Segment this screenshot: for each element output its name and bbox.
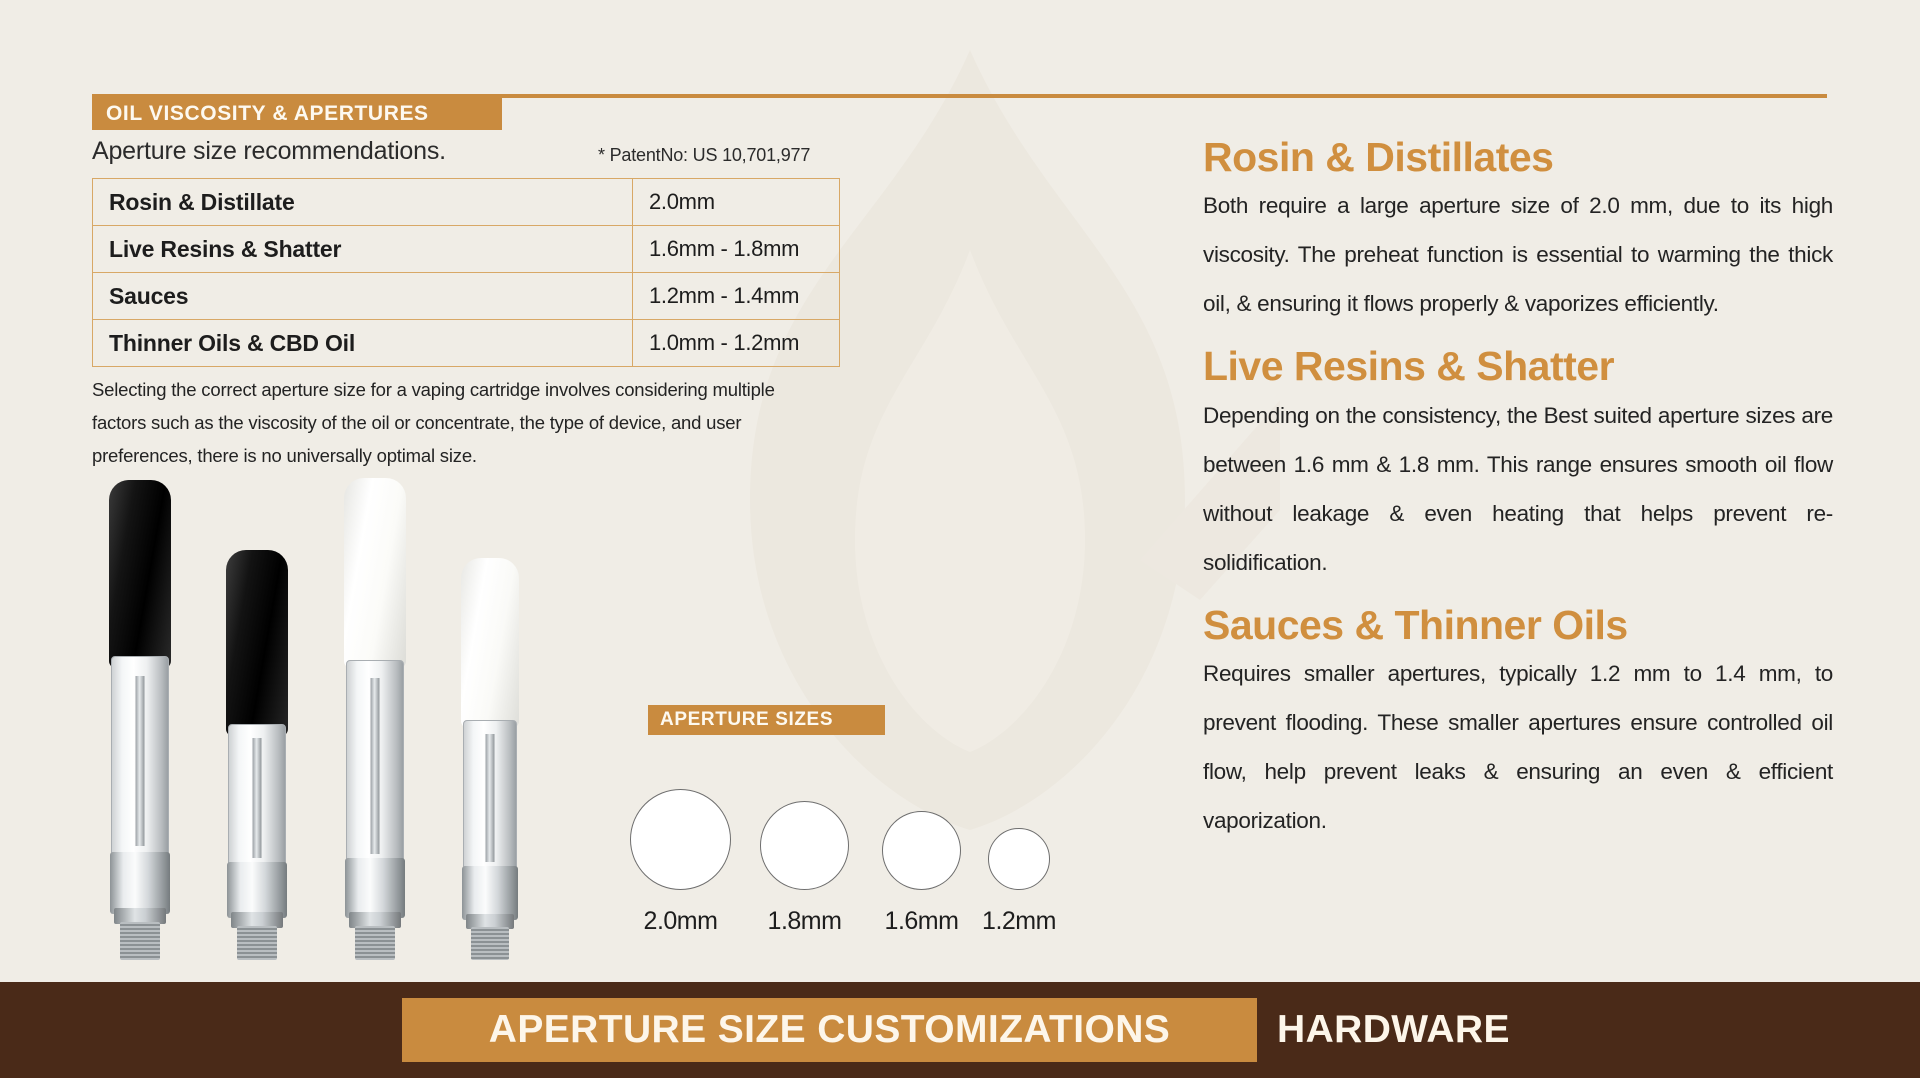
table-cell-aperture-size: 2.0mm [633, 179, 840, 226]
info-block-heading: Sauces & Thinner Oils [1203, 603, 1833, 647]
table-cell-oil-type: Live Resins & Shatter [93, 226, 633, 273]
white-tip-cartridge-short [446, 480, 534, 960]
cartridge-base [227, 862, 287, 918]
cartridge-base [345, 858, 405, 918]
info-block-body: Depending on the consistency, the Best s… [1203, 391, 1833, 587]
thread-connector [355, 926, 395, 960]
thread-connector [120, 922, 160, 960]
footer-chip-label: APERTURE SIZE CUSTOMIZATIONS [402, 998, 1257, 1062]
white-tip-cartridge-tall [331, 480, 419, 960]
table-cell-oil-type: Thinner Oils & CBD Oil [93, 320, 633, 367]
aperture-circle-item: 1.8mm [760, 801, 849, 890]
table-cell-aperture-size: 1.0mm - 1.2mm [633, 320, 840, 367]
mouthpiece-tip [461, 558, 519, 728]
subtitle-aperture-recommendations: Aperture size recommendations. [92, 137, 446, 166]
black-tip-cartridge-short [213, 480, 301, 960]
aperture-circle-label: 2.0mm [644, 907, 718, 936]
aperture-circle-item: 1.2mm [988, 828, 1050, 890]
black-tip-cartridge-tall [96, 480, 184, 960]
table-row: Live Resins & Shatter1.6mm - 1.8mm [93, 226, 840, 273]
table-cell-oil-type: Rosin & Distillate [93, 179, 633, 226]
aperture-circle-group: 2.0mm1.8mm1.6mm1.2mm [630, 762, 1150, 942]
aperture-circle [882, 811, 961, 890]
aperture-circle [760, 801, 849, 890]
aperture-circle [988, 828, 1050, 890]
poster-root: OIL VISCOSITY & APERTURES Aperture size … [0, 0, 1920, 1078]
center-post [486, 734, 495, 862]
table-row: Thinner Oils & CBD Oil1.0mm - 1.2mm [93, 320, 840, 367]
info-block: Rosin & DistillatesBoth require a large … [1203, 135, 1833, 328]
cartridge-lineup-illustration [96, 470, 576, 960]
cartridge-base [462, 866, 518, 920]
section-tag-oil-viscosity: OIL VISCOSITY & APERTURES [92, 97, 502, 130]
footer-bar: APERTURE SIZE CUSTOMIZATIONS HARDWARE [0, 982, 1920, 1078]
aperture-circle-label: 1.6mm [885, 907, 959, 936]
table-row: Sauces1.2mm - 1.4mm [93, 273, 840, 320]
aperture-circle-label: 1.8mm [768, 907, 842, 936]
thread-connector [471, 927, 509, 960]
info-block-heading: Live Resins & Shatter [1203, 344, 1833, 388]
thread-connector [237, 926, 277, 960]
section-tag-aperture-sizes: APERTURE SIZES [648, 705, 885, 735]
aperture-circle-item: 1.6mm [882, 811, 961, 890]
right-content-column: Rosin & DistillatesBoth require a large … [1203, 135, 1833, 845]
table-row: Rosin & Distillate2.0mm [93, 179, 840, 226]
table-cell-oil-type: Sauces [93, 273, 633, 320]
footer-hardware-label: HARDWARE [1277, 998, 1510, 1062]
mouthpiece-tip [226, 550, 288, 736]
info-block-body: Requires smaller apertures, typically 1.… [1203, 649, 1833, 845]
center-post [136, 676, 145, 846]
info-block-heading: Rosin & Distillates [1203, 135, 1833, 179]
center-post [253, 738, 262, 858]
mouthpiece-tip [109, 480, 171, 668]
mouthpiece-tip [344, 478, 406, 668]
patent-note: * PatentNo: US 10,701,977 [598, 145, 810, 166]
aperture-circle [630, 789, 731, 890]
cartridge-base [110, 852, 170, 914]
aperture-circle-item: 2.0mm [630, 789, 731, 890]
center-post [371, 678, 380, 854]
selection-note-paragraph: Selecting the correct aperture size for … [92, 373, 832, 472]
info-block: Sauces & Thinner OilsRequires smaller ap… [1203, 603, 1833, 845]
aperture-circle-label: 1.2mm [982, 907, 1056, 936]
aperture-recommendation-table: Rosin & Distillate2.0mmLive Resins & Sha… [92, 178, 840, 367]
table-cell-aperture-size: 1.2mm - 1.4mm [633, 273, 840, 320]
table-cell-aperture-size: 1.6mm - 1.8mm [633, 226, 840, 273]
info-block: Live Resins & ShatterDepending on the co… [1203, 344, 1833, 586]
info-block-body: Both require a large aperture size of 2.… [1203, 181, 1833, 328]
